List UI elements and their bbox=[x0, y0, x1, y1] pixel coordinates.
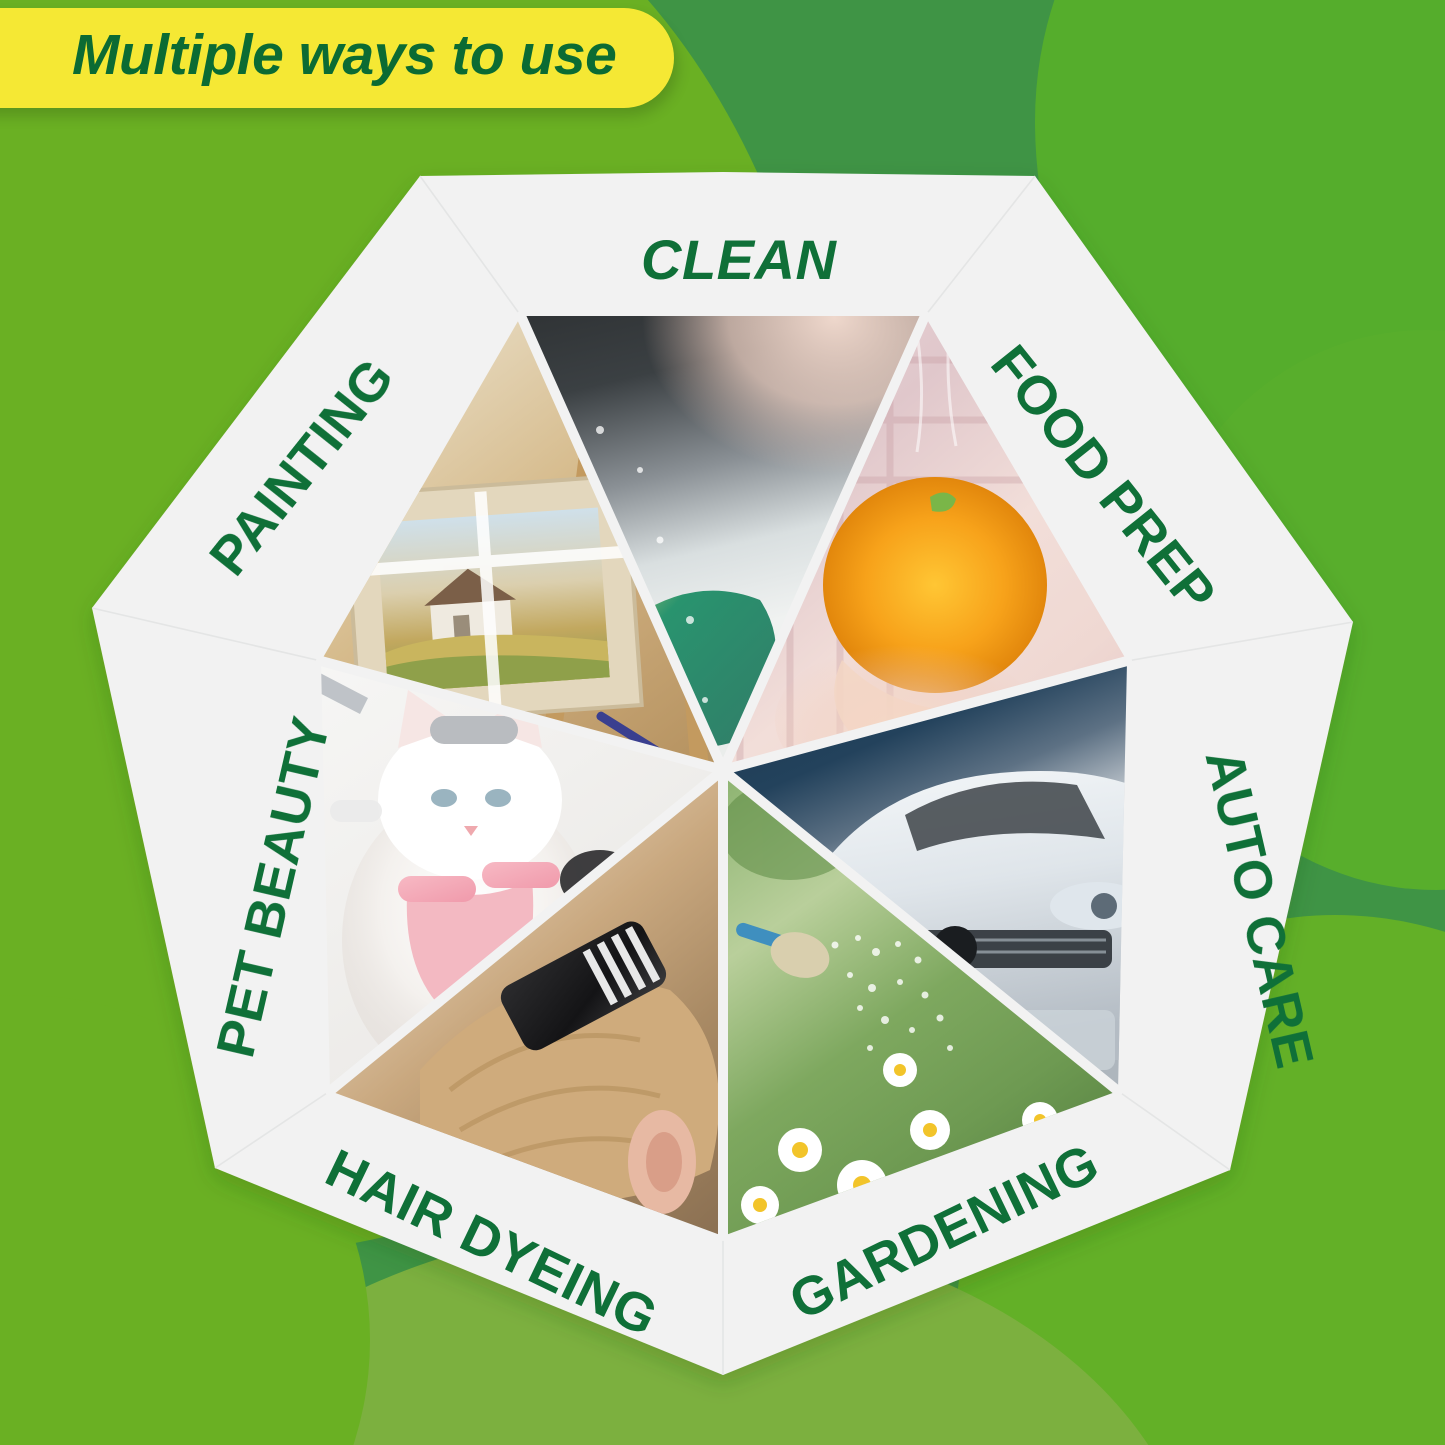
header-badge-text: Multiple ways to use bbox=[72, 26, 616, 86]
usage-wheel-svg bbox=[0, 0, 1445, 1445]
usage-wheel bbox=[0, 0, 1445, 1445]
header-badge: Multiple ways to use bbox=[0, 8, 674, 108]
infographic-canvas: CLEAN FOOD PREP AUTO CARE GARDENING HAIR… bbox=[0, 0, 1445, 1445]
segment-label-clean: CLEAN bbox=[641, 232, 836, 288]
